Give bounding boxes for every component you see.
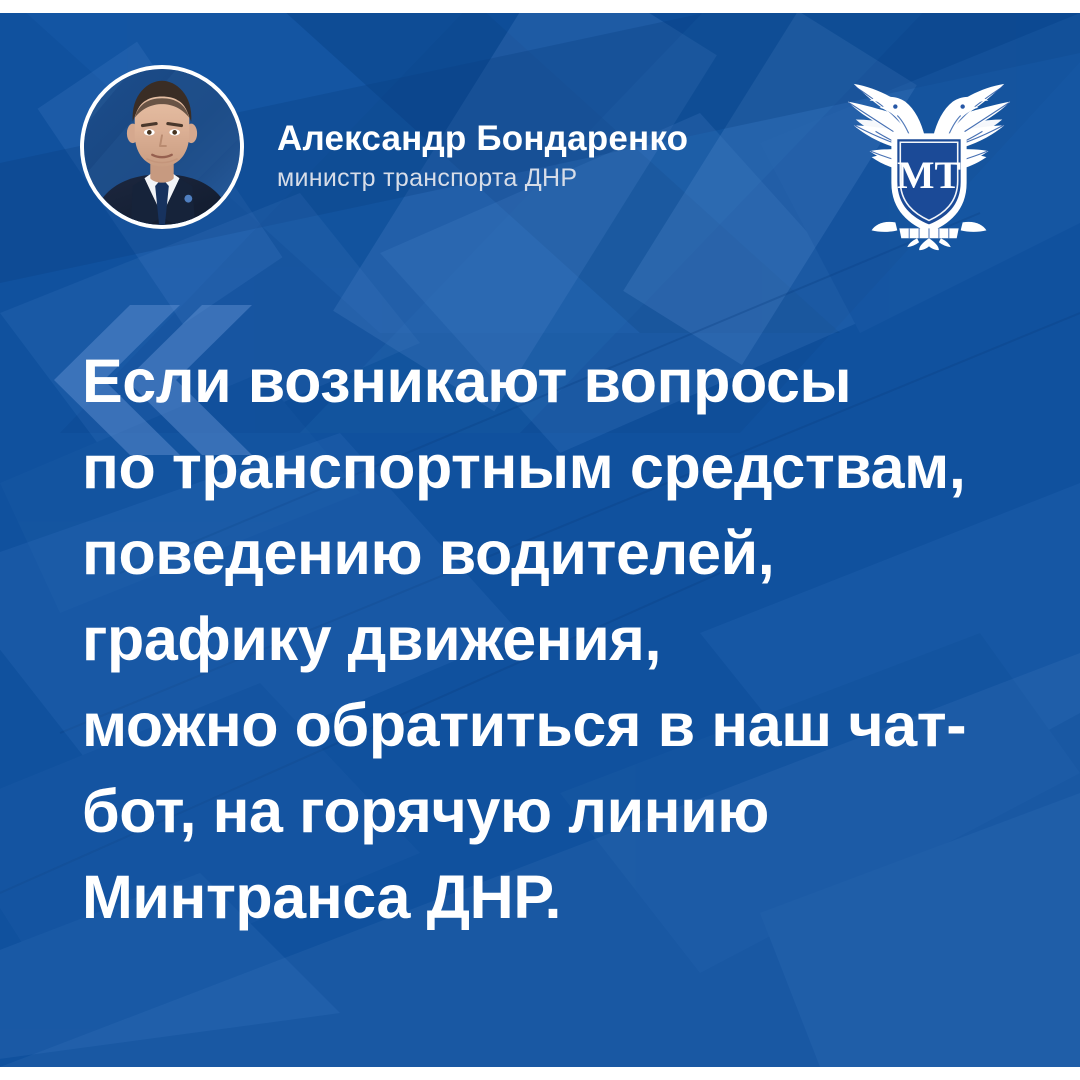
quote-line: можно обратиться в наш чат-	[82, 682, 1042, 768]
quote-line: бот, на горячую линию	[82, 768, 1042, 854]
ministry-emblem-icon: МТ	[830, 71, 1028, 261]
quote-line: графику движения,	[82, 596, 1042, 682]
avatar	[80, 65, 244, 229]
quote-line: по транспортным средствам,	[82, 424, 1042, 510]
header: Александр Бондаренко министр транспорта …	[0, 13, 1080, 283]
avatar-photo	[84, 69, 240, 225]
person-name: Александр Бондаренко	[277, 118, 837, 159]
quote-line: поведению водителей,	[82, 510, 1042, 596]
quote-line: Минтранса ДНР.	[82, 854, 1042, 940]
quote-card: Александр Бондаренко министр транспорта …	[0, 0, 1080, 1080]
quote-line: Если возникают вопросы	[82, 338, 1042, 424]
quote-text: Если возникают вопросы по транспортным с…	[82, 338, 1042, 940]
person-info: Александр Бондаренко министр транспорта …	[277, 118, 837, 193]
emblem-monogram: МТ	[897, 153, 961, 197]
card-canvas: Александр Бондаренко министр транспорта …	[0, 13, 1080, 1067]
person-role: министр транспорта ДНР	[277, 163, 837, 193]
